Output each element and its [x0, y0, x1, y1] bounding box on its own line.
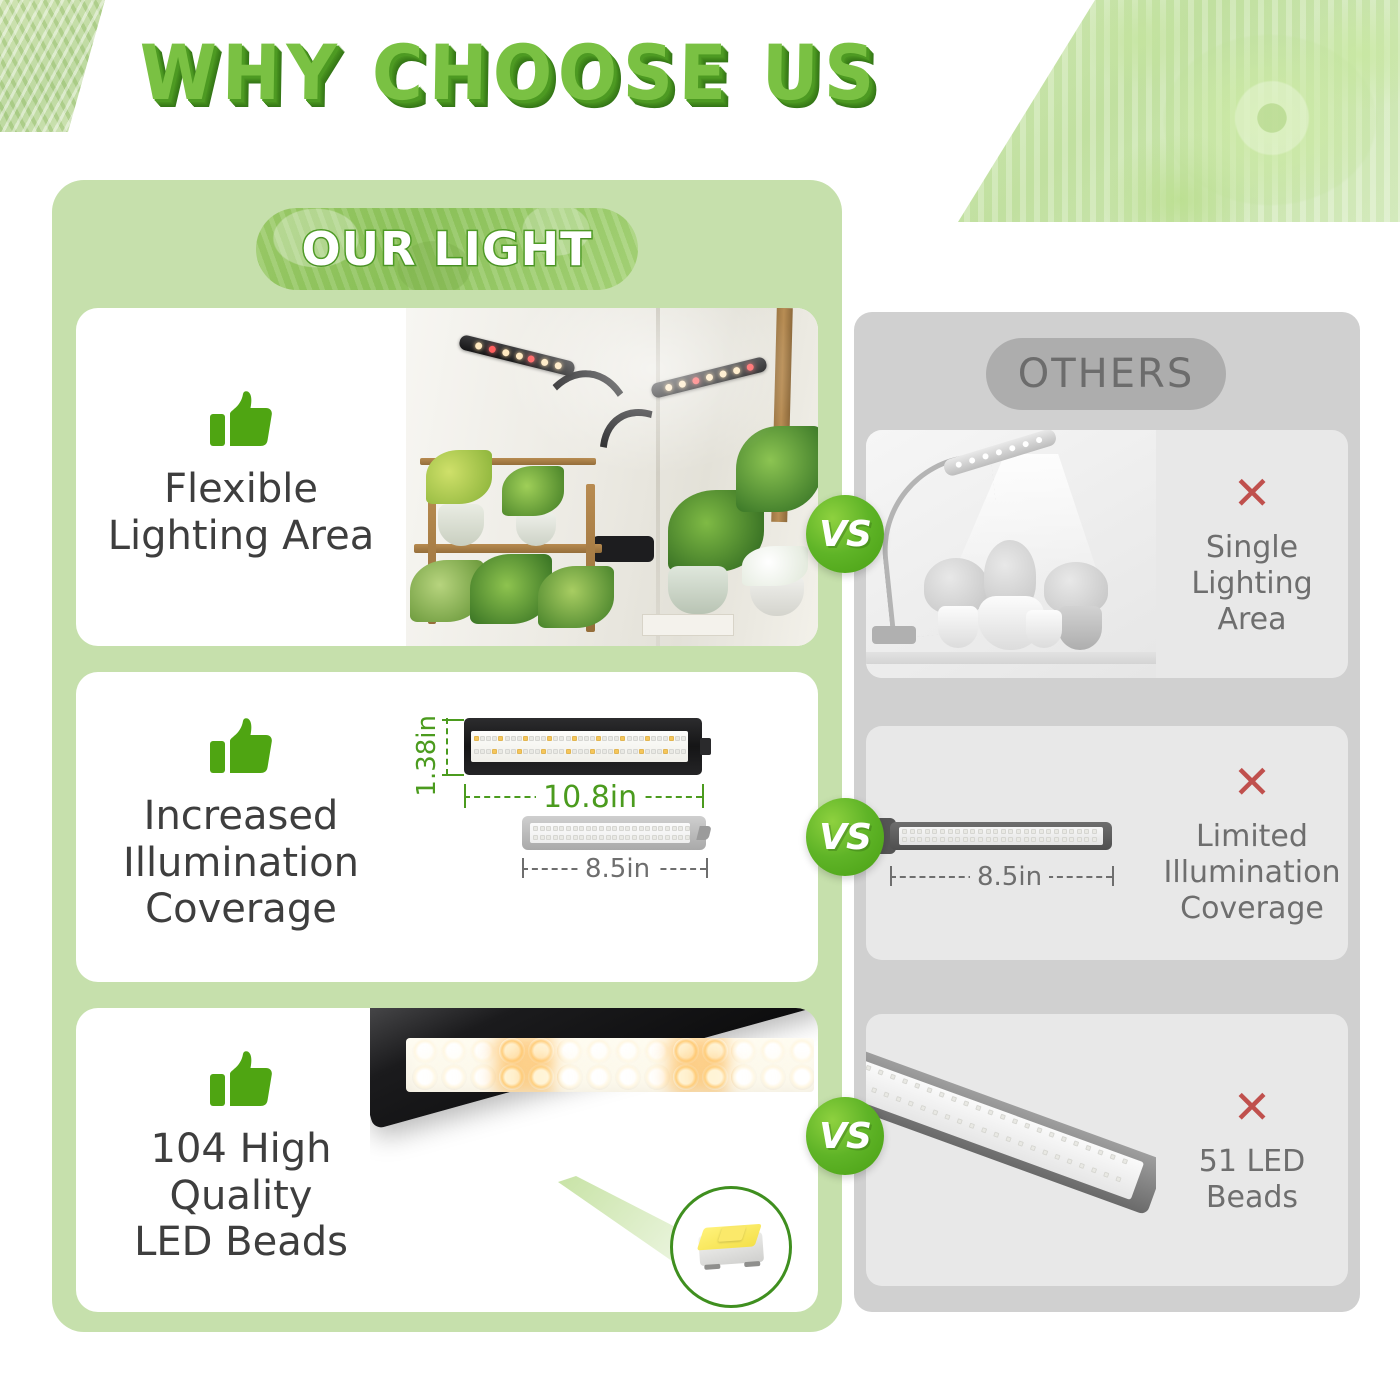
smd-led-chip-inset — [670, 1186, 792, 1308]
ours-feature-title-3: 104 High Quality LED Beads — [134, 1126, 348, 1266]
red-x-icon: ✕ — [1233, 470, 1272, 516]
competitor-diagonal-bar — [866, 1048, 1156, 1215]
others-feature-card-2: 8.5in ✕ Limited Illumination Coverage — [866, 726, 1348, 960]
header-left-leaf-decoration — [0, 0, 120, 132]
others-feature-card-3: ✕ 51 LED Beads — [866, 1014, 1348, 1286]
thumbs-up-icon — [208, 1050, 274, 1112]
header-right-succulent-decoration — [880, 0, 1400, 222]
others-badge: OTHERS — [986, 338, 1226, 410]
dimension-label-our-length: 10.8in — [536, 780, 644, 815]
vs-badge-3: VS — [806, 1097, 884, 1175]
gray-led-bar-photo — [866, 1014, 1156, 1286]
thumbs-up-icon — [208, 390, 274, 452]
dimension-label-height: 1.38in — [412, 708, 442, 804]
competitor-led-bar-graphic — [522, 816, 706, 850]
ours-feature-card-3: 104 High Quality LED Beads — [76, 1008, 818, 1312]
ours-feature-text-2: Increased Illumination Coverage — [76, 672, 406, 982]
dimension-label-other-length: 8.5in — [578, 854, 657, 884]
red-x-icon: ✕ — [1233, 1084, 1272, 1130]
red-x-icon: ✕ — [1233, 759, 1272, 805]
others-feature-title-1: Single Lighting Area — [1156, 530, 1348, 638]
smd-chip-icon — [693, 1222, 768, 1273]
vs-badge-1: VS — [806, 495, 884, 573]
others-badge-label: OTHERS — [1018, 351, 1194, 397]
ours-feature-text-1: Flexible Lighting Area — [76, 308, 406, 646]
thumbs-up-icon — [208, 717, 274, 779]
page-title: WHY CHOOSE US — [139, 28, 881, 117]
others-feature-text-1: ✕ Single Lighting Area — [1156, 430, 1348, 678]
single-head-clip-lamp-photo — [866, 430, 1156, 678]
ours-feature-card-2: Increased Illumination Coverage 1.38in — [76, 672, 818, 982]
ours-badge-label: OUR LIGHT — [302, 222, 593, 276]
ours-feature-card-1: Flexible Lighting Area — [76, 308, 818, 646]
others-feature-title-2: Limited Illumination Coverage — [1164, 819, 1341, 927]
others-feature-text-3: ✕ 51 LED Beads — [1156, 1014, 1348, 1286]
ours-feature-text-3: 104 High Quality LED Beads — [76, 1008, 406, 1312]
ours-feature-title-2: Increased Illumination Coverage — [123, 793, 359, 933]
led-bar-closeup-photo-with-smd-chip-inset — [370, 1008, 818, 1312]
ours-feature-title-1: Flexible Lighting Area — [108, 466, 374, 560]
short-led-bar-diagram: 8.5in — [866, 726, 1156, 960]
dimension-label-others-length: 8.5in — [970, 862, 1049, 892]
vs-label: VS — [819, 514, 871, 555]
our-led-bar-graphic — [464, 718, 702, 775]
led-bar-dimension-diagram: 1.38in 10.8in 8.5in — [406, 672, 818, 982]
vs-badge-2: VS — [806, 798, 884, 876]
others-feature-text-2: ✕ Limited Illumination Coverage — [1156, 726, 1348, 960]
ours-badge: OUR LIGHT — [256, 208, 638, 290]
others-feature-card-1: ✕ Single Lighting Area — [866, 430, 1348, 678]
vs-label: VS — [819, 1116, 871, 1157]
vs-label: VS — [819, 817, 871, 858]
infographic-page: WHY CHOOSE US OUR LIGHT OTHERS Flexible … — [0, 0, 1400, 1400]
dual-head-clip-grow-light-photo — [406, 308, 818, 646]
others-feature-title-3: 51 LED Beads — [1199, 1144, 1305, 1216]
